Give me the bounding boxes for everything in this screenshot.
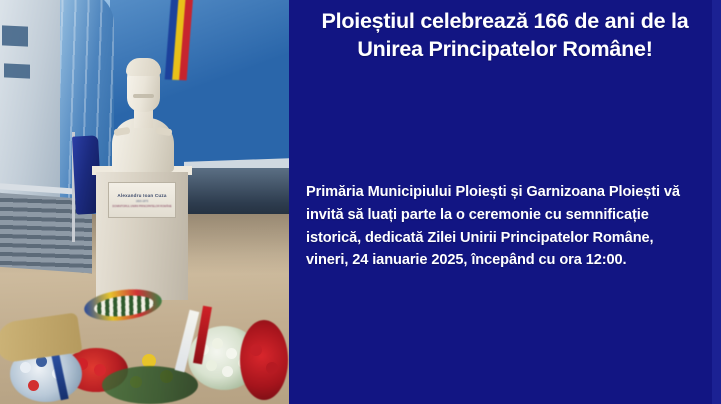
flower	[222, 366, 233, 377]
flower	[20, 362, 31, 373]
bust-moustache	[133, 94, 154, 98]
announcement-body: Primăria Municipiului Ploiești și Garniz…	[306, 181, 698, 272]
panel-right-edge	[712, 0, 721, 404]
flower	[212, 338, 223, 349]
announcement-poster: Alexandru Ioan Cuza 1820-1873 DOMNITORUL…	[0, 0, 721, 404]
flower	[226, 348, 237, 359]
flower	[206, 360, 217, 371]
wreath	[240, 320, 288, 400]
page-title: Ploieștiul celebrează 166 de ani de la U…	[299, 8, 711, 63]
bust-hair	[126, 58, 161, 76]
flower	[266, 362, 278, 374]
plaque-subtitle: DOMNITORUL UNIRII PRINCIPATELOR ROMÂNE	[112, 205, 171, 208]
marble-bust	[112, 56, 174, 172]
text-panel: Ploieștiul celebrează 166 de ani de la U…	[289, 0, 721, 404]
flower	[250, 344, 262, 356]
building-window	[4, 63, 30, 78]
plaque-name: Alexandru Ioan Cuza	[117, 193, 166, 198]
ceremony-photo: Alexandru Ioan Cuza 1820-1873 DOMNITORUL…	[0, 0, 289, 404]
floral-wreaths	[2, 292, 287, 404]
building-window	[2, 25, 28, 46]
memorial-plaque: Alexandru Ioan Cuza 1820-1873 DOMNITORUL…	[108, 182, 176, 218]
flower	[28, 380, 39, 391]
plaque-years: 1820-1873	[136, 200, 148, 203]
flower	[94, 364, 106, 376]
